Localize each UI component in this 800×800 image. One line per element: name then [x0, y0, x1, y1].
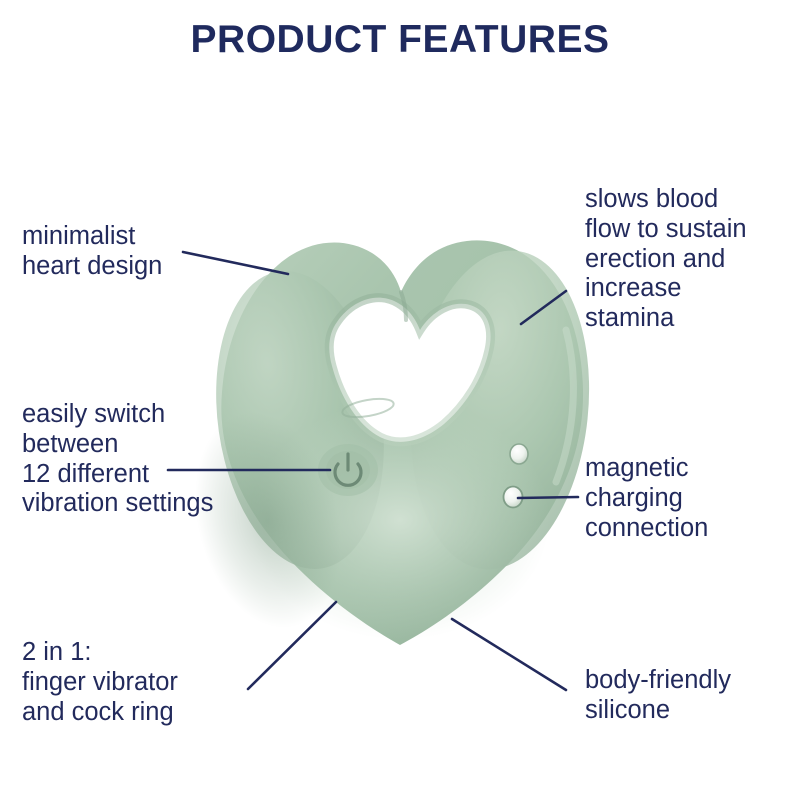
charging-pin-upper — [510, 444, 528, 464]
callout-easily-switch-settings: easily switch between 12 different vibra… — [22, 400, 213, 519]
charging-pin-lower — [504, 487, 523, 508]
product-features-page: PRODUCT FEATURES — [0, 0, 800, 800]
callout-two-in-one: 2 in 1: finger vibrator and cock ring — [22, 638, 178, 727]
callout-slows-blood-flow: slows blood flow to sustain erection and… — [585, 185, 747, 334]
callout-body-friendly-silicone: body-friendly silicone — [585, 666, 731, 726]
callout-magnetic-charging-connection: magnetic charging connection — [585, 454, 708, 543]
callout-minimalist-heart-design: minimalist heart design — [22, 222, 162, 282]
